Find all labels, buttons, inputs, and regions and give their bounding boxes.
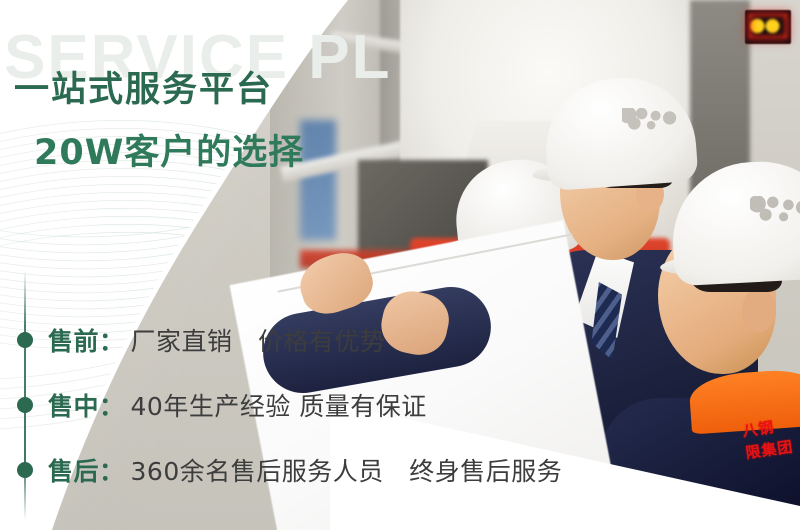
- feature-text: 40年生产经验 质量有保证: [131, 387, 427, 423]
- feature-item-aftersale: 售后： 360余名售后服务人员 终身售后服务: [0, 452, 562, 488]
- feature-label: 售前：: [48, 322, 125, 358]
- headline-secondary: 20W客户的选择: [34, 124, 304, 175]
- worker-center-helmet-vents: [622, 108, 678, 130]
- led-sign-text: [749, 14, 787, 38]
- uniform-print-text: 八钢限集团: [741, 415, 795, 465]
- dot-bullet-icon: [17, 332, 33, 348]
- dot-bullet-icon: [17, 462, 33, 478]
- feature-label: 售后：: [48, 452, 125, 488]
- worker-right-ear: [742, 288, 776, 332]
- feature-item-sale: 售中： 40年生产经验 质量有保证: [0, 387, 427, 423]
- promotional-banner: 八钢限集团: [0, 0, 800, 530]
- headline-primary: 一站式服务平台: [14, 61, 273, 112]
- dot-bullet-icon: [17, 397, 33, 413]
- worker-right-helmet-vents: [750, 196, 800, 222]
- blue-rack: [300, 120, 336, 240]
- feature-label: 售中：: [48, 387, 125, 423]
- feature-text: 360余名售后服务人员 终身售后服务: [131, 452, 563, 488]
- feature-item-presale: 售前： 厂家直销 价格有优势: [0, 322, 386, 358]
- feature-list: 售前： 厂家直销 价格有优势 售中： 40年生产经验 质量有保证 售后： 360…: [0, 270, 620, 530]
- feature-text: 厂家直销 价格有优势: [131, 322, 386, 358]
